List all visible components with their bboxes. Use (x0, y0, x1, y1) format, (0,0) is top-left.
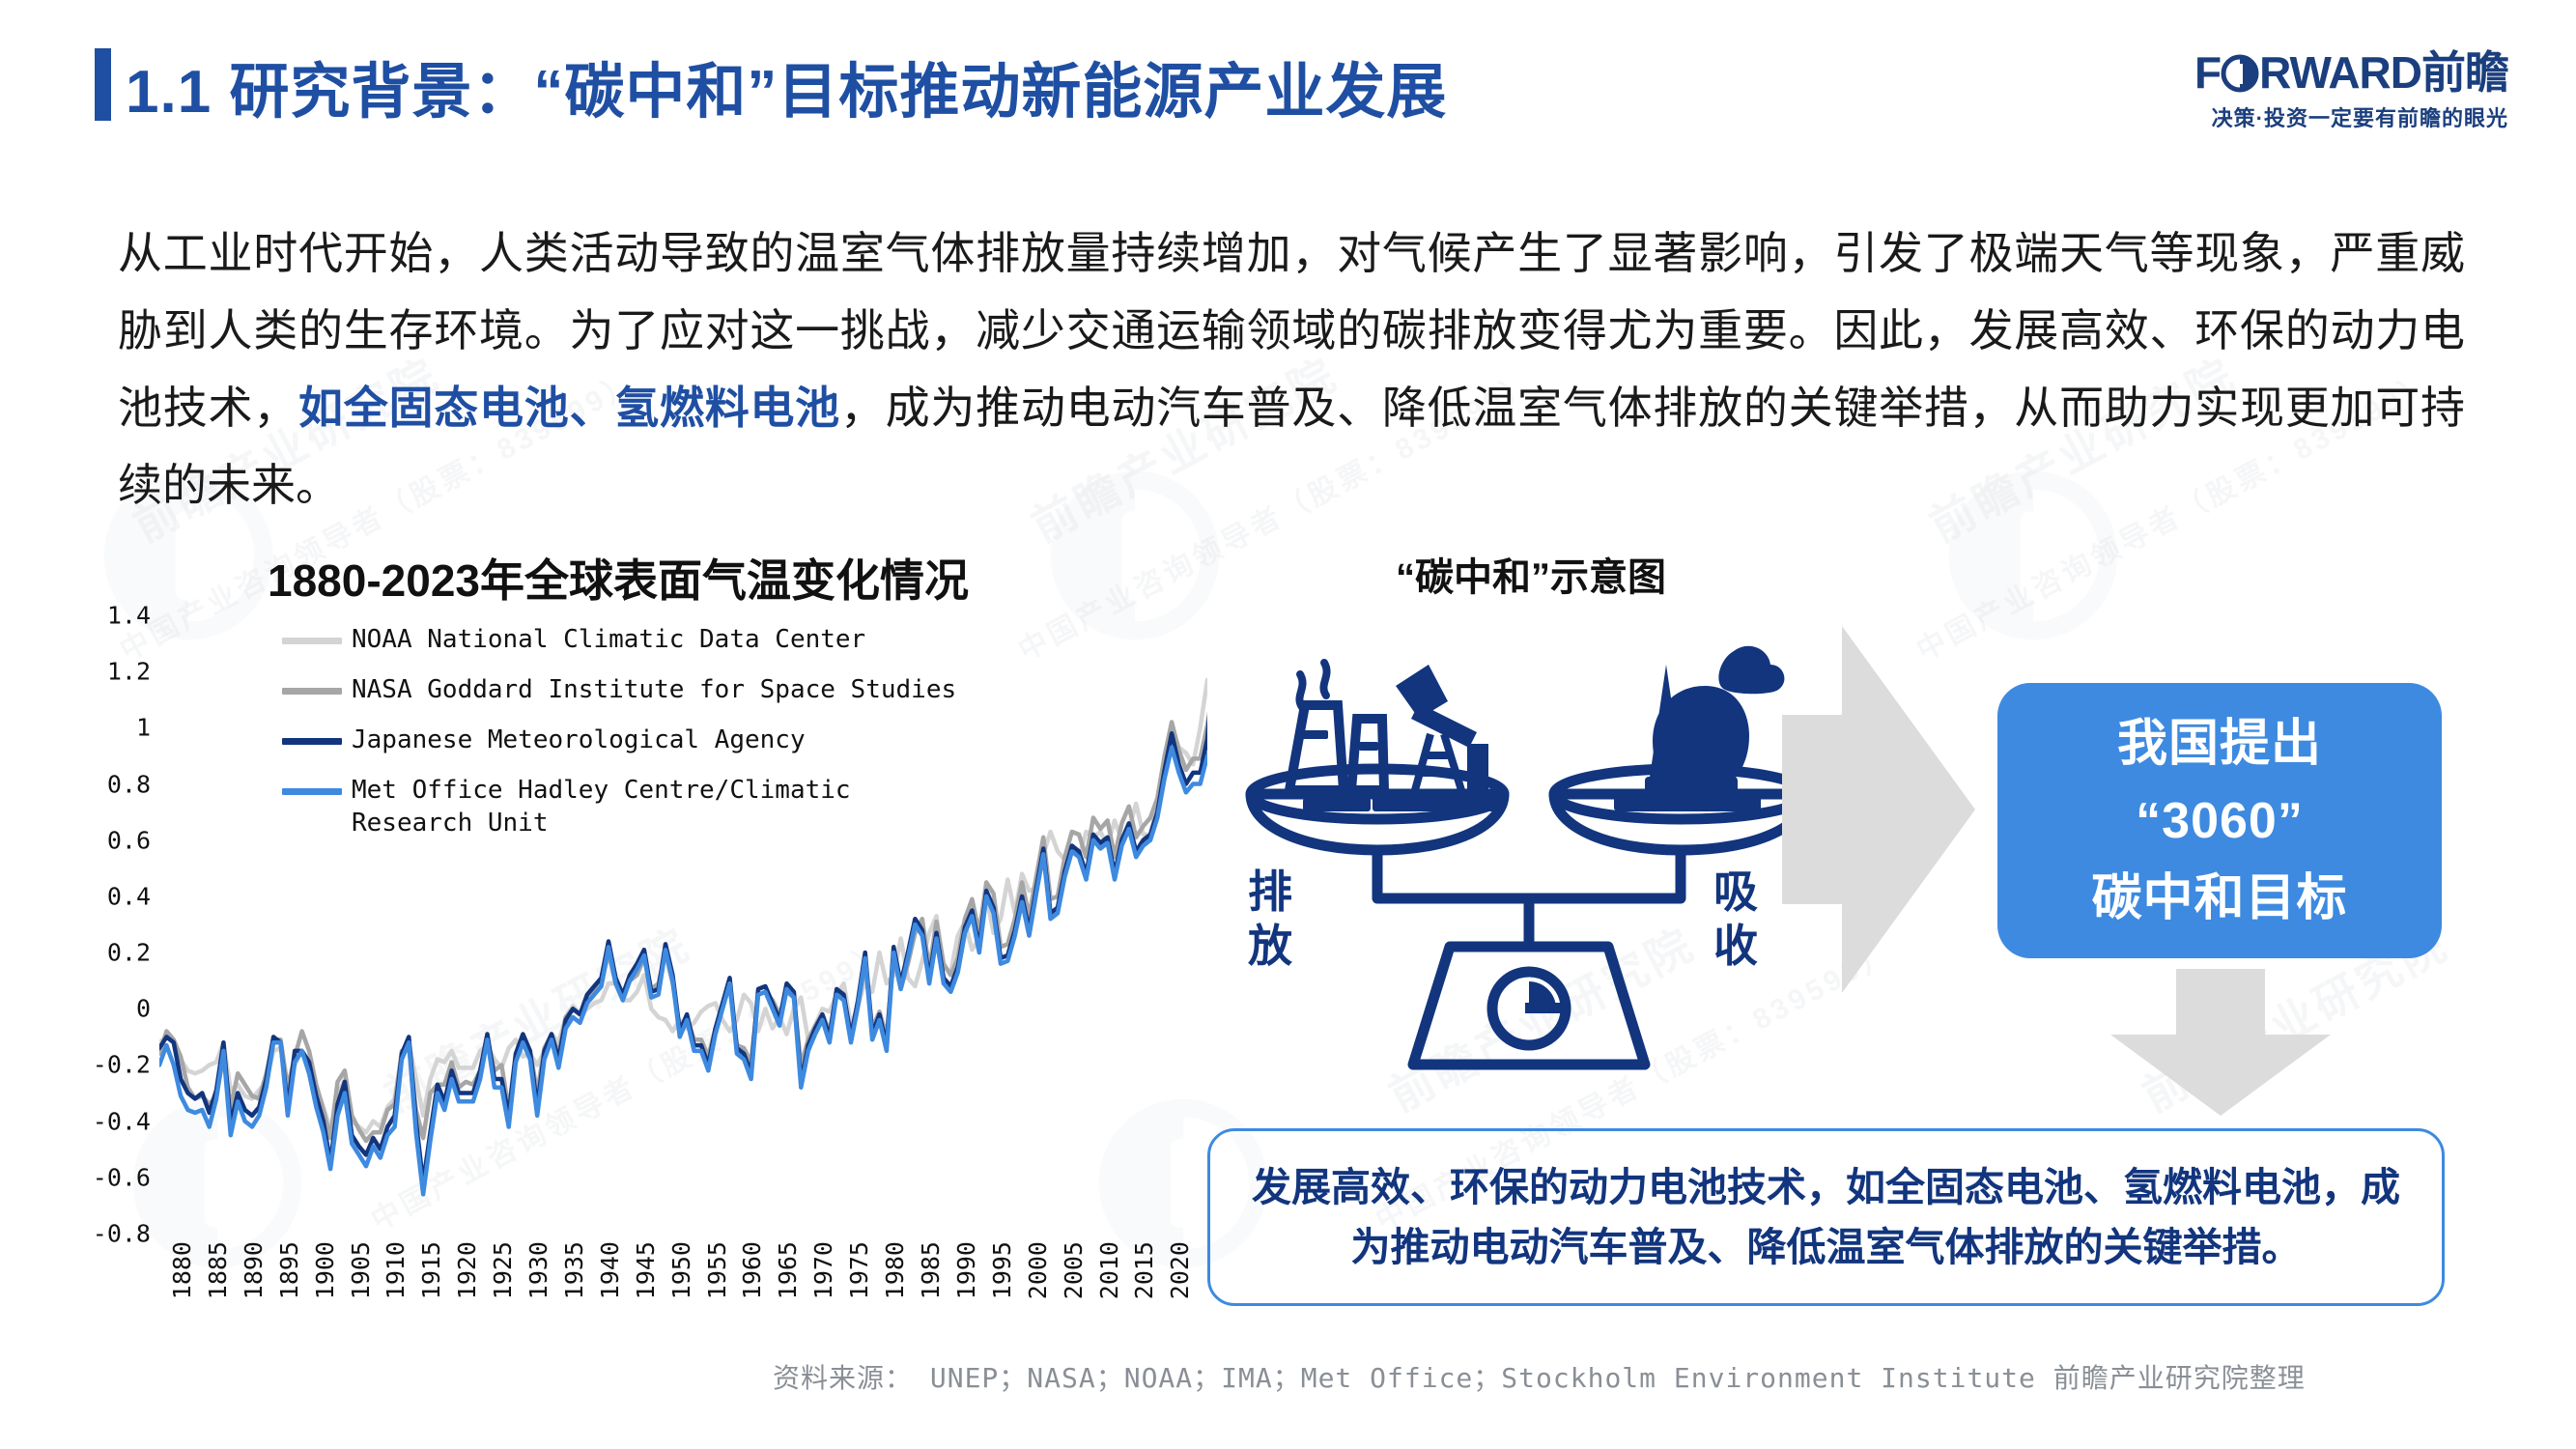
x-axis-tick: 1905 (347, 1241, 375, 1299)
title-accent-bar (95, 48, 111, 121)
y-axis-tick: -0.4 (93, 1107, 151, 1135)
callout-text-bold: 全固态电池、氢燃料电池 (1885, 1165, 2321, 1209)
y-axis-tick: -0.6 (93, 1163, 151, 1191)
x-axis-tick: 1995 (988, 1241, 1016, 1299)
x-axis-tick: 2015 (1130, 1241, 1158, 1299)
x-axis-tick: 1915 (417, 1241, 445, 1299)
logo-tagline: 决策·投资一定要有前瞻的眼光 (2194, 101, 2508, 132)
goal-line-3: 碳中和目标 (2091, 860, 2347, 937)
logo-wordmark: FRWARD前瞻 (2194, 50, 2508, 95)
y-axis-tick: -0.2 (93, 1051, 151, 1079)
y-axis-tick: 1.2 (107, 658, 151, 686)
x-axis-tick: 1960 (738, 1241, 766, 1299)
x-axis-tick: 1895 (275, 1241, 303, 1299)
logo-pre: F (2194, 47, 2221, 98)
x-axis-tick: 1900 (311, 1241, 339, 1299)
temperature-chart: 1880-2023年全球表面气温变化情况 NOAA National Clima… (58, 546, 1236, 1328)
x-axis-tick: 2005 (1060, 1241, 1088, 1299)
x-axis-tick: 1975 (845, 1241, 873, 1299)
arrow-right-icon (1782, 626, 1975, 993)
x-axis-tick: 1880 (168, 1241, 196, 1299)
y-axis-tick: -0.8 (93, 1220, 151, 1248)
y-axis-tick: 0.2 (107, 939, 151, 967)
intro-paragraph: 从工业时代开始，人类活动导致的温室气体排放量持续增加，对气候产生了显著影响，引发… (118, 214, 2465, 524)
diagram-title: “碳中和”示意图 (1212, 546, 1850, 602)
goal-line-2: “3060” (2136, 782, 2304, 860)
label-emission: 排放 (1241, 865, 1299, 973)
x-axis-tick: 1970 (809, 1241, 837, 1299)
x-axis-tick: 1925 (489, 1241, 517, 1299)
x-axis-tick: 1965 (774, 1241, 802, 1299)
y-axis-tick: 0.8 (107, 770, 151, 798)
y-axis-tick: 0.4 (107, 882, 151, 910)
carbon-neutral-diagram: “碳中和”示意图 (1212, 546, 1850, 1087)
x-axis-tick: 1990 (952, 1241, 980, 1299)
x-axis-tick: 1935 (560, 1241, 588, 1299)
y-axis-tick: 1 (136, 714, 151, 742)
intro-highlight: 如全固态电池、氢燃料电池 (298, 383, 840, 433)
goal-line-1: 我国提出 (2117, 705, 2322, 782)
logo-post: RWARD前瞻 (2259, 47, 2508, 98)
callout-text-a: 发展高效、环保的动力电池技术，如 (1252, 1165, 1885, 1209)
callout-line-2: 为推动电动汽车普及、降低温室气体排放的关键举措。 (1351, 1217, 2302, 1277)
x-axis-tick: 1955 (703, 1241, 731, 1299)
x-axis-tick: 2010 (1095, 1241, 1123, 1299)
brand-logo: FRWARD前瞻 决策·投资一定要有前瞻的眼光 (2194, 50, 2508, 132)
y-axis-tick: 0 (136, 995, 151, 1023)
x-axis-tick: 2000 (1024, 1241, 1052, 1299)
x-axis-tick: 1920 (453, 1241, 481, 1299)
balance-scale-icon (1230, 618, 1828, 1072)
x-axis-tick: 1985 (917, 1241, 945, 1299)
y-axis-tick: 0.6 (107, 826, 151, 854)
x-axis-tick: 1890 (240, 1241, 268, 1299)
x-axis-tick: 1950 (667, 1241, 695, 1299)
x-axis-tick: 1945 (632, 1241, 660, 1299)
chart-title: 1880-2023年全球表面气温变化情况 (58, 546, 1178, 610)
goal-callout-box: 我国提出 “3060” 碳中和目标 (1997, 683, 2442, 958)
battery-tech-callout: 发展高效、环保的动力电池技术，如全固态电池、氢燃料电池，成 为推动电动汽车普及、… (1207, 1128, 2445, 1306)
label-absorption: 吸收 (1707, 865, 1765, 973)
x-axis-tick: 1910 (382, 1241, 410, 1299)
arrow-down-icon (2110, 969, 2331, 1116)
x-axis-tick: 1940 (596, 1241, 624, 1299)
source-note: 资料来源： UNEP；NASA；NOAA；IMA；Met Office；Stoc… (773, 1357, 2473, 1396)
y-axis-tick: 1.4 (107, 602, 151, 630)
callout-line-1: 发展高效、环保的动力电池技术，如全固态电池、氢燃料电池，成 (1252, 1157, 2400, 1217)
x-axis-tick: 1980 (881, 1241, 909, 1299)
chart-x-axis: 1880188518901895190019051910191519201925… (159, 615, 1207, 1234)
page-title: 1.1 研究背景：“碳中和”目标推动新能源产业发展 (126, 43, 1447, 129)
x-axis-tick: 1930 (524, 1241, 552, 1299)
page-header: 1.1 研究背景：“碳中和”目标推动新能源产业发展 FRWARD前瞻 决策·投资… (0, 0, 2576, 145)
x-axis-tick: 2020 (1166, 1241, 1194, 1299)
callout-text-c: ，成 (2321, 1165, 2400, 1209)
clock-icon (1492, 972, 1566, 1045)
forward-ring-icon (2221, 54, 2259, 93)
x-axis-tick: 1885 (204, 1241, 232, 1299)
